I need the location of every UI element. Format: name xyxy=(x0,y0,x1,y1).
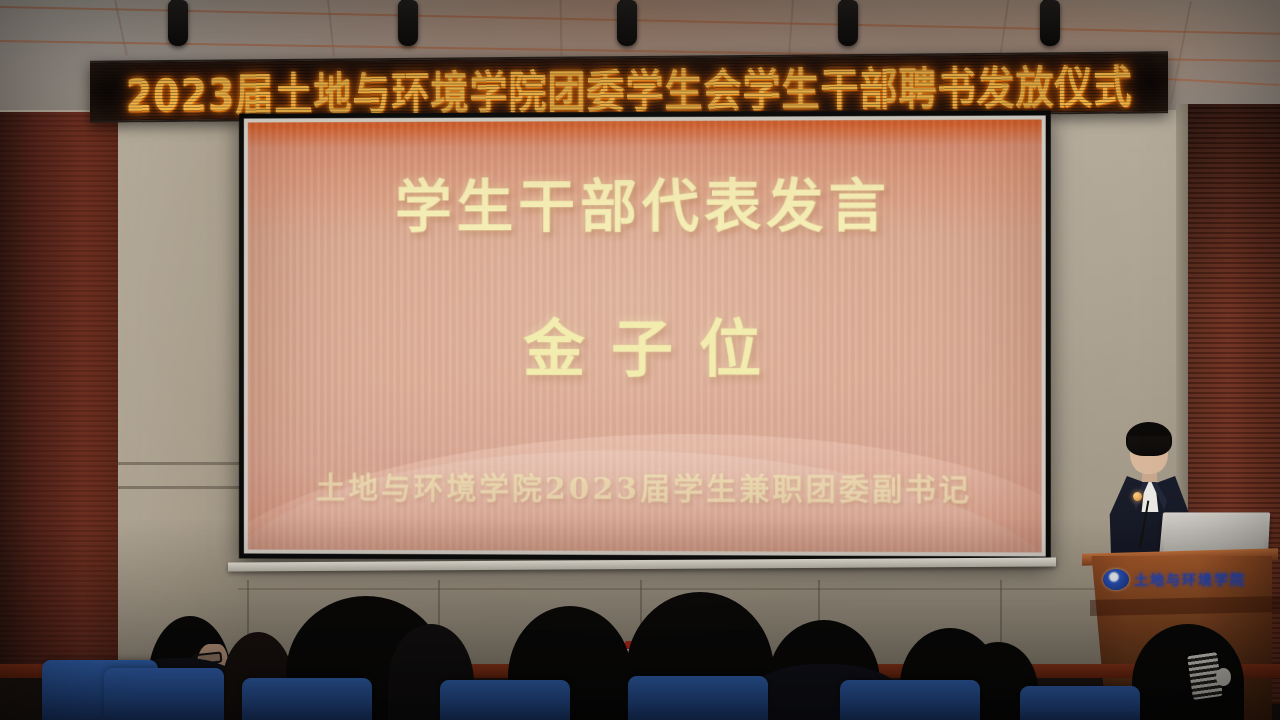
podium-org-text: 土地与环境学院 xyxy=(1134,570,1246,590)
ceiling-spotlight xyxy=(1040,0,1060,46)
slide-speaker-role: 土地与环境学院2023届学生兼职团委副书记 xyxy=(248,463,1042,509)
ceiling-spotlight xyxy=(617,0,637,46)
ceiling-spotlight xyxy=(838,0,858,46)
audience-chair xyxy=(628,676,768,720)
slide-speaker-name: 金子位 xyxy=(248,299,1042,390)
wall-trim xyxy=(118,462,258,465)
presentation-slide: 学生干部代表发言 金子位 土地与环境学院2023届学生兼职团委副书记 xyxy=(248,120,1042,553)
hair-claw-clip-knob xyxy=(1216,668,1231,686)
audience-chair xyxy=(440,680,570,720)
projection-screen: 学生干部代表发言 金子位 土地与环境学院2023届学生兼职团委副书记 xyxy=(239,110,1051,561)
ceiling-spotlight xyxy=(398,0,418,46)
slide-title: 学生干部代表发言 xyxy=(248,160,1042,244)
left-wood-panel xyxy=(0,112,118,672)
ceiling-spotlight xyxy=(168,0,188,46)
audience-chair xyxy=(840,680,980,720)
audience-chair xyxy=(1020,686,1140,720)
laptop-screen xyxy=(1163,515,1266,553)
speaker-hair xyxy=(1128,436,1170,456)
audience-chair xyxy=(104,668,224,720)
wall-trim xyxy=(238,588,1178,590)
microphone-head xyxy=(1133,492,1142,501)
wall-panel xyxy=(118,116,248,672)
audience-chair xyxy=(242,678,372,720)
wall-trim xyxy=(118,486,258,489)
ceremony-photo-scene: 2023届土地与环境学院团委学生会学生干部聘书发放仪式 学生干部代表发言 金子位… xyxy=(0,0,1280,720)
university-emblem-icon xyxy=(1103,569,1129,590)
